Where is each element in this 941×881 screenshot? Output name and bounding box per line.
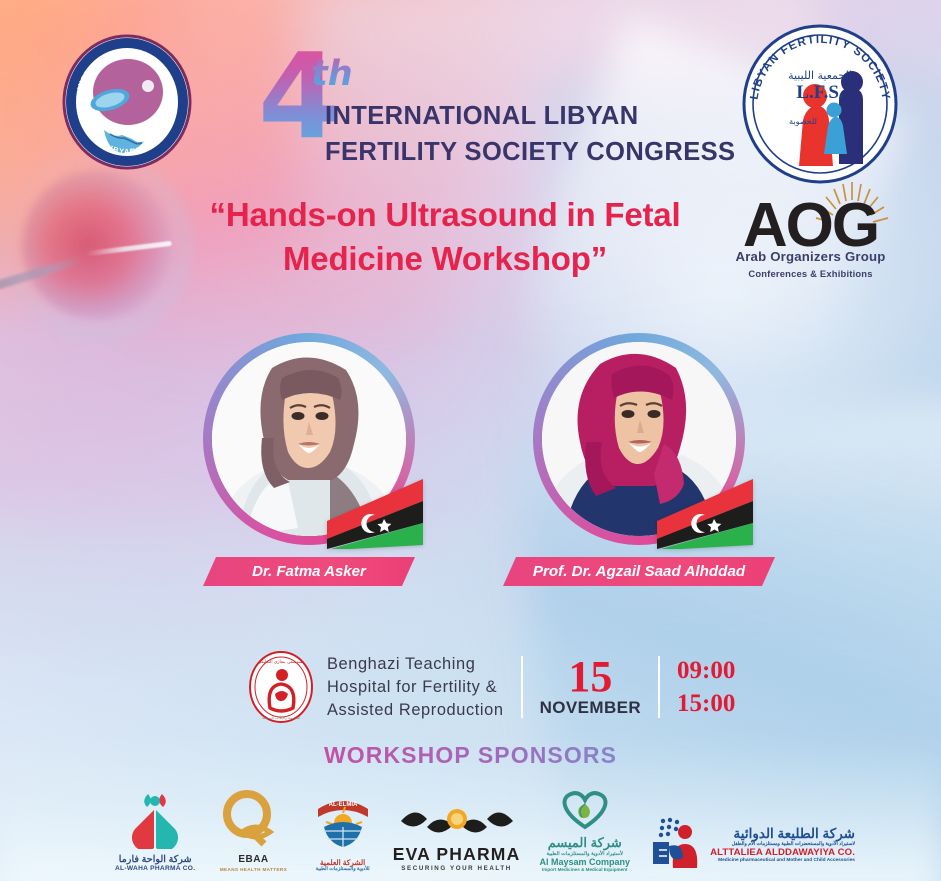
event-times: 09:00 15:00 — [677, 654, 735, 720]
sponsor-logo: شركة الميسم لأستيراد الأدوية والمستلزمات… — [540, 790, 631, 872]
speaker-photo-ring — [533, 333, 745, 545]
sponsor-tagline: Import Medicines & Medical Equipment — [540, 867, 631, 872]
sponsor-name-english: Al Maysam Company — [540, 857, 631, 867]
divider — [521, 656, 523, 718]
al-waha-pharma-logo-icon — [118, 789, 192, 849]
sponsor-logo: شركة الواحة فارما AL-WAHA PHARMA CO. — [115, 789, 195, 872]
conference-seal-icon: INFERTILITY SOCIETY FOURTH LIBYAN CONFER… — [62, 34, 192, 170]
congress-title-line1: INTERNATIONAL LIBYAN — [325, 98, 745, 134]
congress-title: INTERNATIONAL LIBYAN FERTILITY SOCIETY C… — [325, 98, 745, 170]
divider — [658, 656, 660, 718]
event-day: 15 — [540, 657, 641, 697]
sponsor-name-arabic: شركة الواحة فارما — [115, 854, 195, 865]
al-maysam-logo-icon — [554, 790, 616, 830]
event-time-start: 09:00 — [677, 654, 735, 687]
sponsor-name-english: EVA PHARMA — [393, 844, 521, 865]
venue-name-line3: Assisted Reproduction — [327, 699, 504, 722]
workshop-title: “Hands-on Ultrasound in Fetal Medicine W… — [135, 193, 755, 281]
al-elmia-logo-icon: AL-ELMIA — [312, 791, 374, 853]
sponsor-name-english: AL-WAHA PHARMA CO. — [115, 865, 195, 872]
svg-text:مستشفى بنغازي التعليمي: مستشفى بنغازي التعليمي — [258, 660, 305, 665]
speaker-photo-ring — [203, 333, 415, 545]
congress-title-line2: FERTILITY SOCIETY CONGRESS — [325, 134, 745, 170]
benghazi-teaching-hospital-seal-icon: مستشفى بنغازي التعليمي للخصوبة والإنجاب … — [248, 650, 314, 724]
libya-flag-icon — [321, 475, 429, 549]
svg-text:L.F.S.: L.F.S. — [796, 82, 843, 103]
qebaa-logo-icon — [214, 788, 292, 852]
event-date: 15 NOVEMBER — [540, 657, 641, 718]
sponsor-logo: AL-ELMIA الشركة العلمية للأدوية والمستلز… — [312, 791, 374, 872]
venue-name: Benghazi Teaching Hospital for Fertility… — [327, 653, 504, 722]
sponsor-name-arabic: شركة الميسم — [540, 835, 631, 851]
event-month: NOVEMBER — [540, 698, 641, 718]
sponsor-name-arabic: شركة الطليعة الدوائية — [710, 826, 855, 842]
speaker-name: Dr. Fatma Asker — [252, 563, 366, 580]
event-poster: INFERTILITY SOCIETY FOURTH LIBYAN CONFER… — [0, 0, 941, 881]
libyan-fertility-society-seal-icon: L.F.S. الجمعية الليبية للخصوبة LIBYAN FE… — [741, 24, 899, 184]
workshop-title-line2: Medicine Workshop” — [135, 237, 755, 281]
sponsor-name-english: ALTTALIEA ALDDAWAYIYA CO. — [710, 847, 855, 858]
aog-name-line1: Arab Organizers Group — [728, 249, 893, 264]
speaker-card: Prof. Dr. Agzail Saad Alhddad — [533, 333, 745, 586]
edition-suffix: th — [311, 54, 353, 94]
svg-text:الجمعية الليبية: الجمعية الليبية — [788, 69, 852, 82]
sponsor-tagline: SECURING YOUR HEALTH — [393, 865, 521, 872]
sponsor-tagline: MEANS HEALTH MATTERS — [214, 867, 292, 872]
sponsor-name-english: EBAA — [238, 854, 268, 865]
sponsor-tagline: Medicine pharmaceutical and Mother and C… — [710, 858, 855, 863]
alttaliea-alddawayiya-logo-icon — [649, 816, 705, 872]
sponsors-heading: WORKSHOP SPONSORS — [0, 742, 941, 769]
venue-name-line2: Hospital for Fertility & — [327, 676, 504, 699]
speaker-card: Dr. Fatma Asker — [203, 333, 415, 586]
svg-text:للخصوبة: للخصوبة — [789, 117, 817, 126]
event-time-end: 15:00 — [677, 687, 735, 720]
speaker-name-banner: Dr. Fatma Asker — [203, 557, 415, 586]
libya-flag-icon — [651, 475, 759, 549]
sponsor-logo: شركة الطليعة الدوائية لاستيراد الأدوية و… — [649, 816, 855, 872]
sponsor-name-arabic: الشركة العلمية — [312, 858, 374, 867]
sponsor-logo: EVA PHARMA SECURING YOUR HEALTH — [393, 805, 521, 872]
aog-name-line2: Conferences & Exhibitions — [728, 268, 893, 279]
aog-sunburst-icon: AOG Arab Organizers Group Conferences & … — [728, 186, 893, 286]
venue-name-line1: Benghazi Teaching — [327, 653, 504, 676]
eva-pharma-logo-icon — [397, 805, 517, 839]
sponsor-logo: EBAA MEANS HEALTH MATTERS — [214, 788, 292, 872]
sponsor-name-arabic2: لاستيراد الأدوية والمستحضرات الطبية ومست… — [710, 842, 855, 847]
venue-date-row: مستشفى بنغازي التعليمي للخصوبة والإنجاب … — [248, 648, 735, 726]
sponsor-name-arabic2: للأدوية والمستلزمات الطبية — [312, 867, 374, 872]
speaker-name-banner: Prof. Dr. Agzail Saad Alhddad — [503, 557, 775, 586]
workshop-title-line1: “Hands-on Ultrasound in Fetal — [135, 193, 755, 237]
svg-text:AL-ELMIA: AL-ELMIA — [328, 802, 357, 808]
speaker-name: Prof. Dr. Agzail Saad Alhddad — [533, 563, 745, 580]
sponsors-row: شركة الواحة فارما AL-WAHA PHARMA CO. EBA… — [115, 788, 855, 872]
